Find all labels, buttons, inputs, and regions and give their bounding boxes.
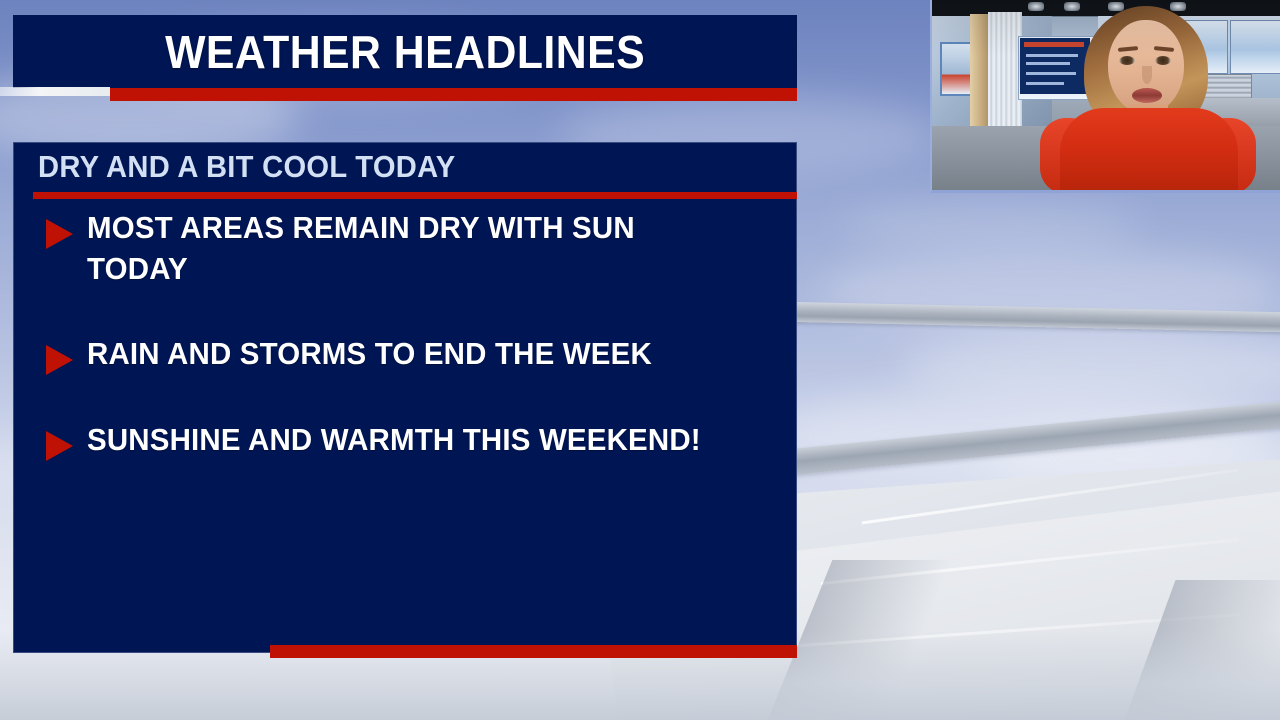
studio-pillar <box>970 14 990 136</box>
headlines-panel: DRY AND A BIT COOL TODAY MOST AREAS REMA… <box>13 142 797 653</box>
graphic-accent-bar <box>1024 42 1084 47</box>
presenter-eye <box>1155 56 1171 65</box>
headlines-bullet-list: MOST AREAS REMAIN DRY WITH SUN TODAY RAI… <box>14 207 796 505</box>
subtitle-divider-rule <box>33 192 797 199</box>
studio-drape <box>988 12 1022 130</box>
studio-monitor <box>1230 20 1280 74</box>
triangle-right-icon <box>46 345 73 375</box>
ceiling-light <box>1108 2 1124 11</box>
list-item: RAIN AND STORMS TO END THE WEEK <box>14 333 796 375</box>
list-item: MOST AREAS REMAIN DRY WITH SUN TODAY <box>14 207 796 289</box>
graphic-line <box>1026 82 1064 85</box>
page-title: WEATHER HEADLINES <box>165 29 645 75</box>
header-accent-red <box>110 88 797 101</box>
broadcast-screen: WEATHER HEADLINES DRY AND A BIT COOL TOD… <box>0 0 1280 720</box>
cloud-shape <box>900 330 1280 400</box>
list-item: SUNSHINE AND WARMTH THIS WEEKEND! <box>14 419 796 461</box>
triangle-right-icon <box>46 431 73 461</box>
triangle-right-icon <box>46 219 73 249</box>
panel-accent-red <box>270 645 797 658</box>
headline-text: RAIN AND STORMS TO END THE WEEK <box>87 333 652 374</box>
graphic-line <box>1026 72 1076 75</box>
headlines-subtitle: DRY AND A BIT COOL TODAY <box>38 149 455 185</box>
header-accent-white <box>0 87 110 96</box>
weather-headlines-header: WEATHER HEADLINES <box>13 15 797 88</box>
presenter-red-dress <box>1060 108 1238 193</box>
headline-text: SUNSHINE AND WARMTH THIS WEEKEND! <box>87 419 701 460</box>
studio-set-scene <box>932 0 1280 190</box>
cloud-shape <box>840 200 1140 250</box>
ceiling-light <box>1028 2 1044 11</box>
headlines-subtitle-row: DRY AND A BIT COOL TODAY <box>14 143 796 191</box>
ceiling-light <box>1064 2 1080 11</box>
meteorologist-video-inset <box>930 0 1280 193</box>
graphic-line <box>1026 54 1078 57</box>
graphic-line <box>1026 62 1070 65</box>
presenter-eye <box>1119 56 1135 65</box>
presenter-mouth <box>1132 88 1162 103</box>
ceiling-light <box>1170 2 1186 11</box>
headline-text: MOST AREAS REMAIN DRY WITH SUN TODAY <box>87 207 736 289</box>
presenter-nose <box>1142 66 1152 84</box>
